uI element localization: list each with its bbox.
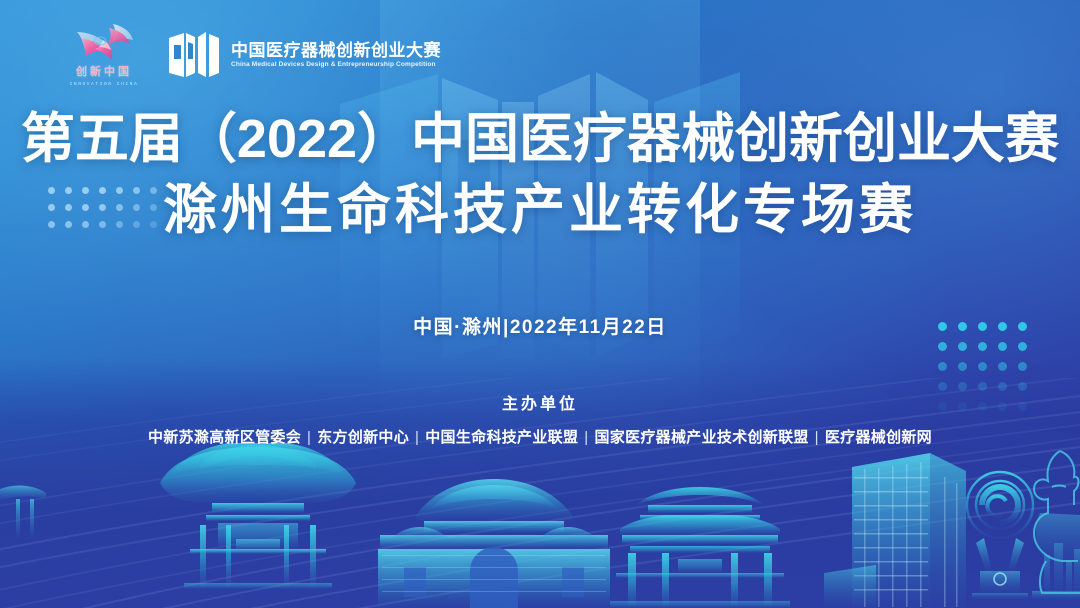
dot (998, 342, 1007, 351)
main-title: 第五届（2022）中国医疗器械创新创业大赛 (0, 108, 1080, 171)
circular-monument-sculpture (967, 472, 1033, 538)
organizer-separator: | (409, 429, 425, 446)
subtitle: 滁州生命科技产业转化专场赛 (0, 179, 1080, 242)
city-wall-gate (378, 479, 610, 608)
dot (958, 342, 967, 351)
dot (1018, 342, 1027, 351)
far-left-eave (0, 486, 46, 539)
organizer-name: 医疗器械创新网 (825, 429, 932, 446)
organizer-name: 东方创新中心 (317, 429, 409, 446)
background-decoration (0, 0, 1080, 608)
location-date: 中国·滁州|2022年11月22日 (0, 312, 1080, 339)
innovation-logo-en-text: INNOVATION CHINA (70, 83, 139, 88)
organizer-name: 中新苏滁高新区管委会 (148, 429, 301, 446)
modern-office-tower (824, 453, 966, 608)
organizer-separator: | (809, 429, 825, 446)
dot (938, 342, 947, 351)
organizer-name: 中国生命科技产业联盟 (425, 429, 578, 446)
merlion-statue (1032, 451, 1080, 599)
dot (1018, 362, 1027, 371)
dot (958, 362, 967, 371)
title-block: 第五届（2022）中国医疗器械创新创业大赛 滁州生命科技产业转化专场赛 (0, 108, 1080, 241)
memorial-archway (610, 487, 790, 608)
monument-base (972, 538, 1028, 599)
organizer-separator: | (578, 429, 594, 446)
event-banner: 创新中国 INNOVATION CHINA 中国医疗器械创新创业大赛 (0, 0, 1080, 608)
dot (938, 362, 947, 371)
open-door-logo-icon (168, 29, 220, 81)
organizer-name: 国家医疗器械产业技术创新联盟 (594, 429, 808, 446)
competition-logo-en-text: China Medical Devices Design & Entrepren… (231, 62, 441, 69)
city-skyline-illustration (0, 443, 1080, 608)
organizers-heading: 主办单位 (0, 390, 1080, 414)
bird-logo-icon (73, 22, 135, 64)
dot (978, 342, 987, 351)
competition-logo-cn-text: 中国医疗器械创新创业大赛 (231, 42, 441, 59)
dot (998, 362, 1007, 371)
organizers-list: 中新苏滁高新区管委会|东方创新中心|中国生命科技产业联盟|国家医疗器械产业技术创… (0, 426, 1080, 447)
innovation-china-logo[interactable]: 创新中国 INNOVATION CHINA (62, 22, 146, 88)
dot (978, 362, 987, 371)
distant-skyline (1044, 543, 1080, 601)
competition-logo[interactable]: 中国医疗器械创新创业大赛 China Medical Devices Desig… (168, 29, 441, 81)
organizer-separator: | (301, 429, 317, 446)
innovation-logo-cn-text: 创新中国 (76, 67, 132, 78)
chinese-pavilion-gate (160, 443, 356, 589)
header-logos: 创新中国 INNOVATION CHINA 中国医疗器械创新创业大赛 (62, 22, 441, 88)
